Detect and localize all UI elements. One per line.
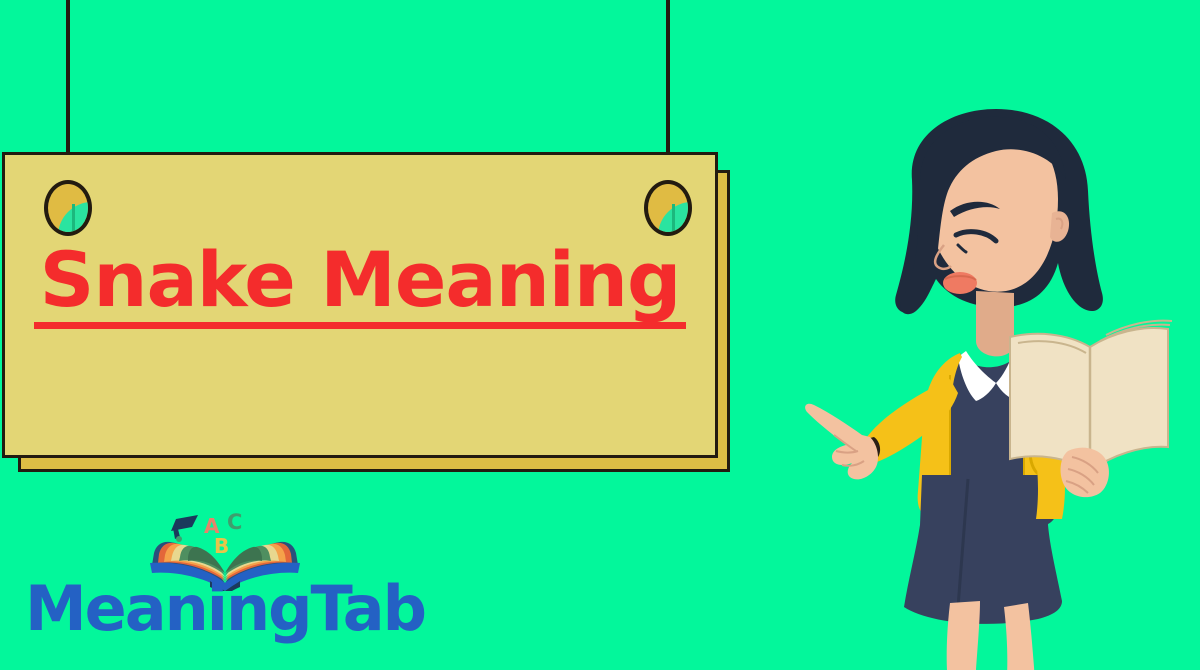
page-title: Snake Meaning [34,240,687,329]
leaf-shape-left [58,202,92,236]
poster-canvas: Snake Meaning A C B [0,0,1200,670]
neck [976,291,1014,356]
logo-wordmark: MeaningTab [10,573,440,645]
svg-text:C: C [227,510,242,534]
leaf-vein-left [72,204,75,232]
leaf-vein-right [672,204,675,232]
leaf-shape-right [658,202,692,236]
site-logo[interactable]: A C B [10,505,440,645]
svg-text:B: B [214,534,229,558]
hanger-knob-right-icon [644,180,692,236]
woman-teacher-pointing-with-book-illustration [800,95,1180,670]
hanger-knob-left-icon [44,180,92,236]
open-book [1010,321,1172,471]
banner-title-container: Snake Meaning [2,240,718,329]
leg-left [946,601,980,670]
